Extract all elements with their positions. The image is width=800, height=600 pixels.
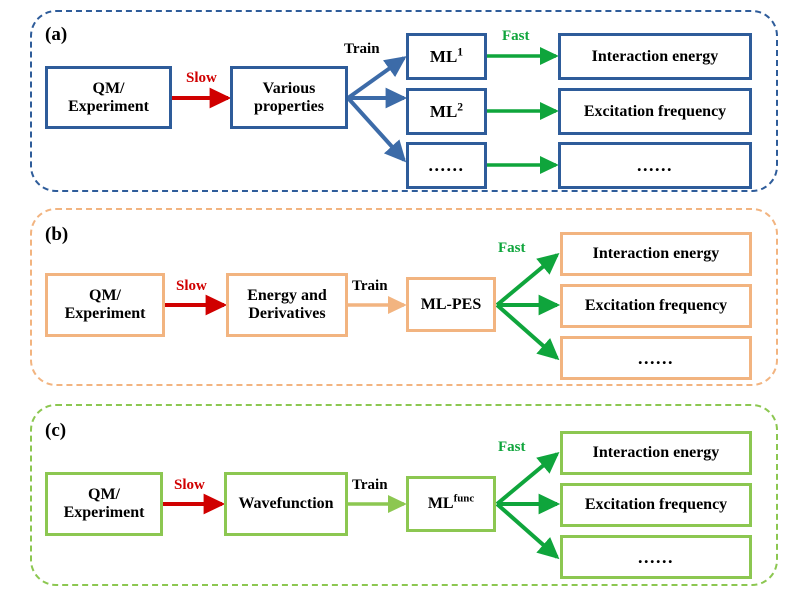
panel-a-output-3-text: ......: [637, 155, 673, 175]
panel-b-train-label: Train: [352, 278, 388, 295]
panel-c-source-line1: QM/: [64, 486, 145, 504]
panel-a-model-1-base: ML: [430, 47, 457, 66]
panel-b-source-line2: Experiment: [65, 305, 146, 323]
panel-c-label: (c): [45, 420, 66, 442]
panel-c-output-box-1: Interaction energy: [560, 431, 752, 475]
panel-c-model-sup: func: [454, 493, 475, 505]
panel-c-output-3-text: ......: [638, 547, 674, 567]
panel-a-output-box-1: Interaction energy: [558, 33, 752, 80]
panel-a-model-3-base: ......: [429, 155, 465, 175]
panel-a-intermediate-line2: properties: [254, 98, 324, 116]
panel-a-output-2-text: Excitation frequency: [584, 103, 726, 121]
panel-a-source-box: QM/ Experiment: [45, 66, 172, 129]
panel-c-fast-label: Fast: [498, 439, 526, 456]
panel-b-output-box-3: ......: [560, 336, 752, 380]
panel-b-model-base: ML-PES: [421, 296, 481, 313]
panel-c-model-base: ML: [428, 495, 454, 512]
panel-c-model-box: MLfunc: [406, 476, 496, 532]
panel-a-intermediate-line1: Various: [254, 80, 324, 98]
panel-b-intermediate-box: Energy and Derivatives: [226, 273, 348, 337]
panel-a-output-box-3: ......: [558, 142, 752, 189]
panel-a-model-box-1: ML1: [406, 33, 487, 80]
panel-c-output-box-2: Excitation frequency: [560, 483, 752, 527]
panel-b-output-box-1: Interaction energy: [560, 232, 752, 276]
panel-a-model-box-3: ......: [406, 142, 487, 189]
panel-a-model-2-sup: 2: [457, 100, 463, 113]
panel-a-model-2-base: ML: [430, 102, 457, 121]
panel-c-source-box: QM/ Experiment: [45, 472, 163, 536]
panel-b-intermediate-line1: Energy and: [247, 287, 327, 305]
panel-b-fast-label: Fast: [498, 240, 526, 257]
panel-b-intermediate-line2: Derivatives: [247, 305, 327, 323]
panel-b-slow-label: Slow: [176, 278, 207, 295]
panel-c-output-box-3: ......: [560, 535, 752, 579]
panel-a-slow-label: Slow: [186, 70, 217, 87]
panel-a-output-1-text: Interaction energy: [592, 48, 719, 66]
panel-b-source-line1: QM/: [65, 287, 146, 305]
panel-c-intermediate-line1: Wavefunction: [238, 495, 333, 513]
panel-a-source-line1: QM/: [68, 80, 149, 98]
panel-c-output-1-text: Interaction energy: [593, 444, 720, 462]
panel-b-label: (b): [45, 224, 68, 246]
panel-b-output-1-text: Interaction energy: [593, 245, 720, 263]
panel-a-output-box-2: Excitation frequency: [558, 88, 752, 135]
panel-a-model-1-sup: 1: [457, 45, 463, 58]
panel-b-model-box: ML-PES: [406, 277, 496, 332]
panel-a-intermediate-box: Various properties: [230, 66, 348, 129]
panel-b-source-box: QM/ Experiment: [45, 273, 165, 337]
panel-c-train-label: Train: [352, 477, 388, 494]
panel-a-fast-label: Fast: [502, 28, 530, 45]
panel-c-source-line2: Experiment: [64, 504, 145, 522]
panel-c-output-2-text: Excitation frequency: [585, 496, 727, 514]
panel-b-output-2-text: Excitation frequency: [585, 297, 727, 315]
panel-c-intermediate-box: Wavefunction: [224, 472, 348, 536]
panel-a-model-box-2: ML2: [406, 88, 487, 135]
figure-canvas: (a) QM/ Experiment Slow Various properti…: [0, 0, 800, 600]
panel-a-label: (a): [45, 24, 67, 46]
panel-b-output-box-2: Excitation frequency: [560, 284, 752, 328]
panel-a-train-label: Train: [344, 41, 380, 58]
panel-c-slow-label: Slow: [174, 477, 205, 494]
panel-b-output-3-text: ......: [638, 348, 674, 368]
panel-a-source-line2: Experiment: [68, 98, 149, 116]
